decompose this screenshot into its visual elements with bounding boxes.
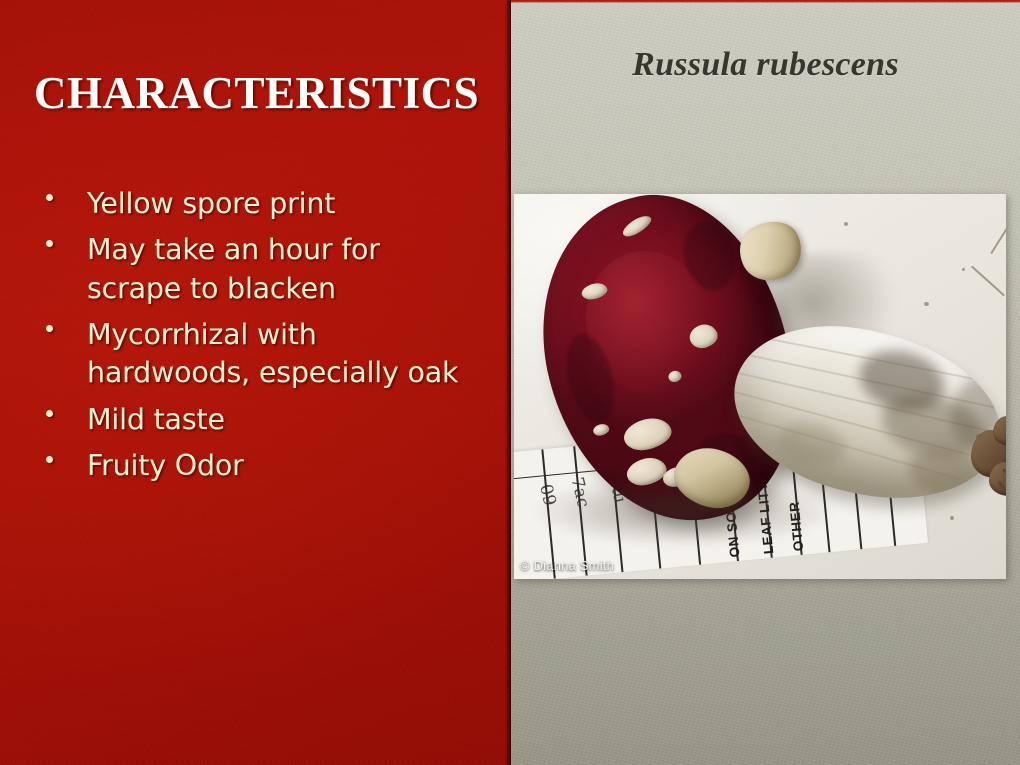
characteristics-bullet-list: Yellow spore print May take an hour for … [38, 185, 470, 493]
species-name-heading: Russula rubescens [511, 46, 1020, 84]
list-item: Fruity Odor [38, 447, 470, 485]
list-item-label: Mycorrhizal with hardwoods, especially o… [87, 318, 458, 389]
list-item: May take an hour for scrape to blacken [38, 231, 470, 308]
page-title: CHARACTERISTICS [34, 70, 484, 118]
panel-divider [505, 0, 511, 765]
list-item: Mild taste [38, 401, 470, 439]
list-item-label: May take an hour for scrape to blacken [87, 233, 380, 304]
presentation-slide: CHARACTERISTICS Yellow spore print May t… [0, 0, 1020, 765]
bullet-dot-icon [46, 325, 53, 332]
mushroom-photograph: 09 7ac Ru ms ON SOIL LEAF LITTER OTHER [514, 194, 1006, 579]
mushroom-root-base [969, 412, 1006, 504]
photo-credit-label: © Dianna Smith [520, 558, 614, 573]
list-item-label: Fruity Odor [87, 449, 244, 482]
bullet-dot-icon [46, 410, 53, 417]
list-item: Yellow spore print [38, 185, 470, 223]
bullet-dot-icon [46, 456, 53, 463]
bullet-dot-icon [46, 194, 53, 201]
list-item-label: Yellow spore print [87, 187, 335, 220]
bullet-dot-icon [46, 240, 53, 247]
list-item: Mycorrhizal with hardwoods, especially o… [38, 316, 470, 393]
list-item-label: Mild taste [87, 403, 225, 436]
top-accent-rule [511, 0, 1020, 3]
